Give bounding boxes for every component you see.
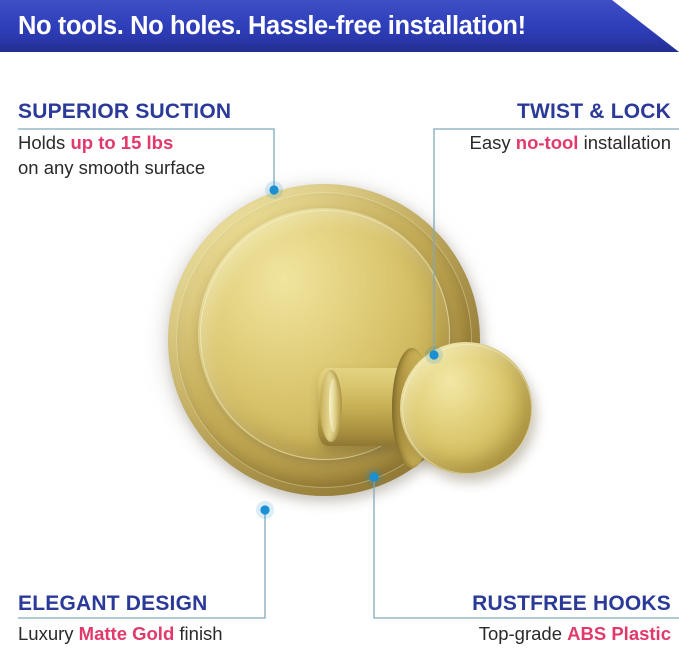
callout-body-text-post: installation	[578, 132, 671, 153]
callout-body-line-1: Holds up to 15 lbs	[18, 130, 205, 155]
callout-body-line-2: on any smooth surface	[18, 155, 205, 180]
callout-body-text: Easy	[469, 132, 515, 153]
callout-body-twist-lock: Easy no-tool installation	[469, 130, 671, 155]
callout-title-rustfree-hooks: RUSTFREE HOOKS	[472, 592, 671, 616]
callout-body-text: Top-grade	[479, 623, 567, 644]
callout-body-highlight: ABS Plastic	[567, 623, 671, 644]
callout-body-text: Holds	[18, 132, 70, 153]
callout-body-rustfree-hooks: Top-grade ABS Plastic	[479, 621, 671, 646]
callout-title-twist-lock: TWIST & LOCK	[517, 100, 671, 124]
callout-body-text-post: finish	[174, 623, 222, 644]
product-infographic: No tools. No holes. Hassle-free installa…	[0, 0, 679, 650]
callout-title-superior-suction: SUPERIOR SUCTION	[18, 100, 231, 124]
callout-body-highlight: up to 15 lbs	[70, 132, 173, 153]
hook-stem-groove-highlight	[329, 378, 338, 432]
callout-body-highlight: Matte Gold	[79, 623, 175, 644]
callout-body-text: Luxury	[18, 623, 79, 644]
callout-title-elegant-design: ELEGANT DESIGN	[18, 592, 207, 616]
callout-body-superior-suction: Holds up to 15 lbs on any smooth surface	[18, 130, 205, 180]
header-banner-content: No tools. No holes. Hassle-free installa…	[0, 0, 679, 52]
callout-body-highlight: no-tool	[516, 132, 579, 153]
banner-headline: No tools. No holes. Hassle-free installa…	[0, 12, 526, 41]
hook-knob-edge	[402, 344, 532, 474]
callout-body-elegant-design: Luxury Matte Gold finish	[18, 621, 223, 646]
